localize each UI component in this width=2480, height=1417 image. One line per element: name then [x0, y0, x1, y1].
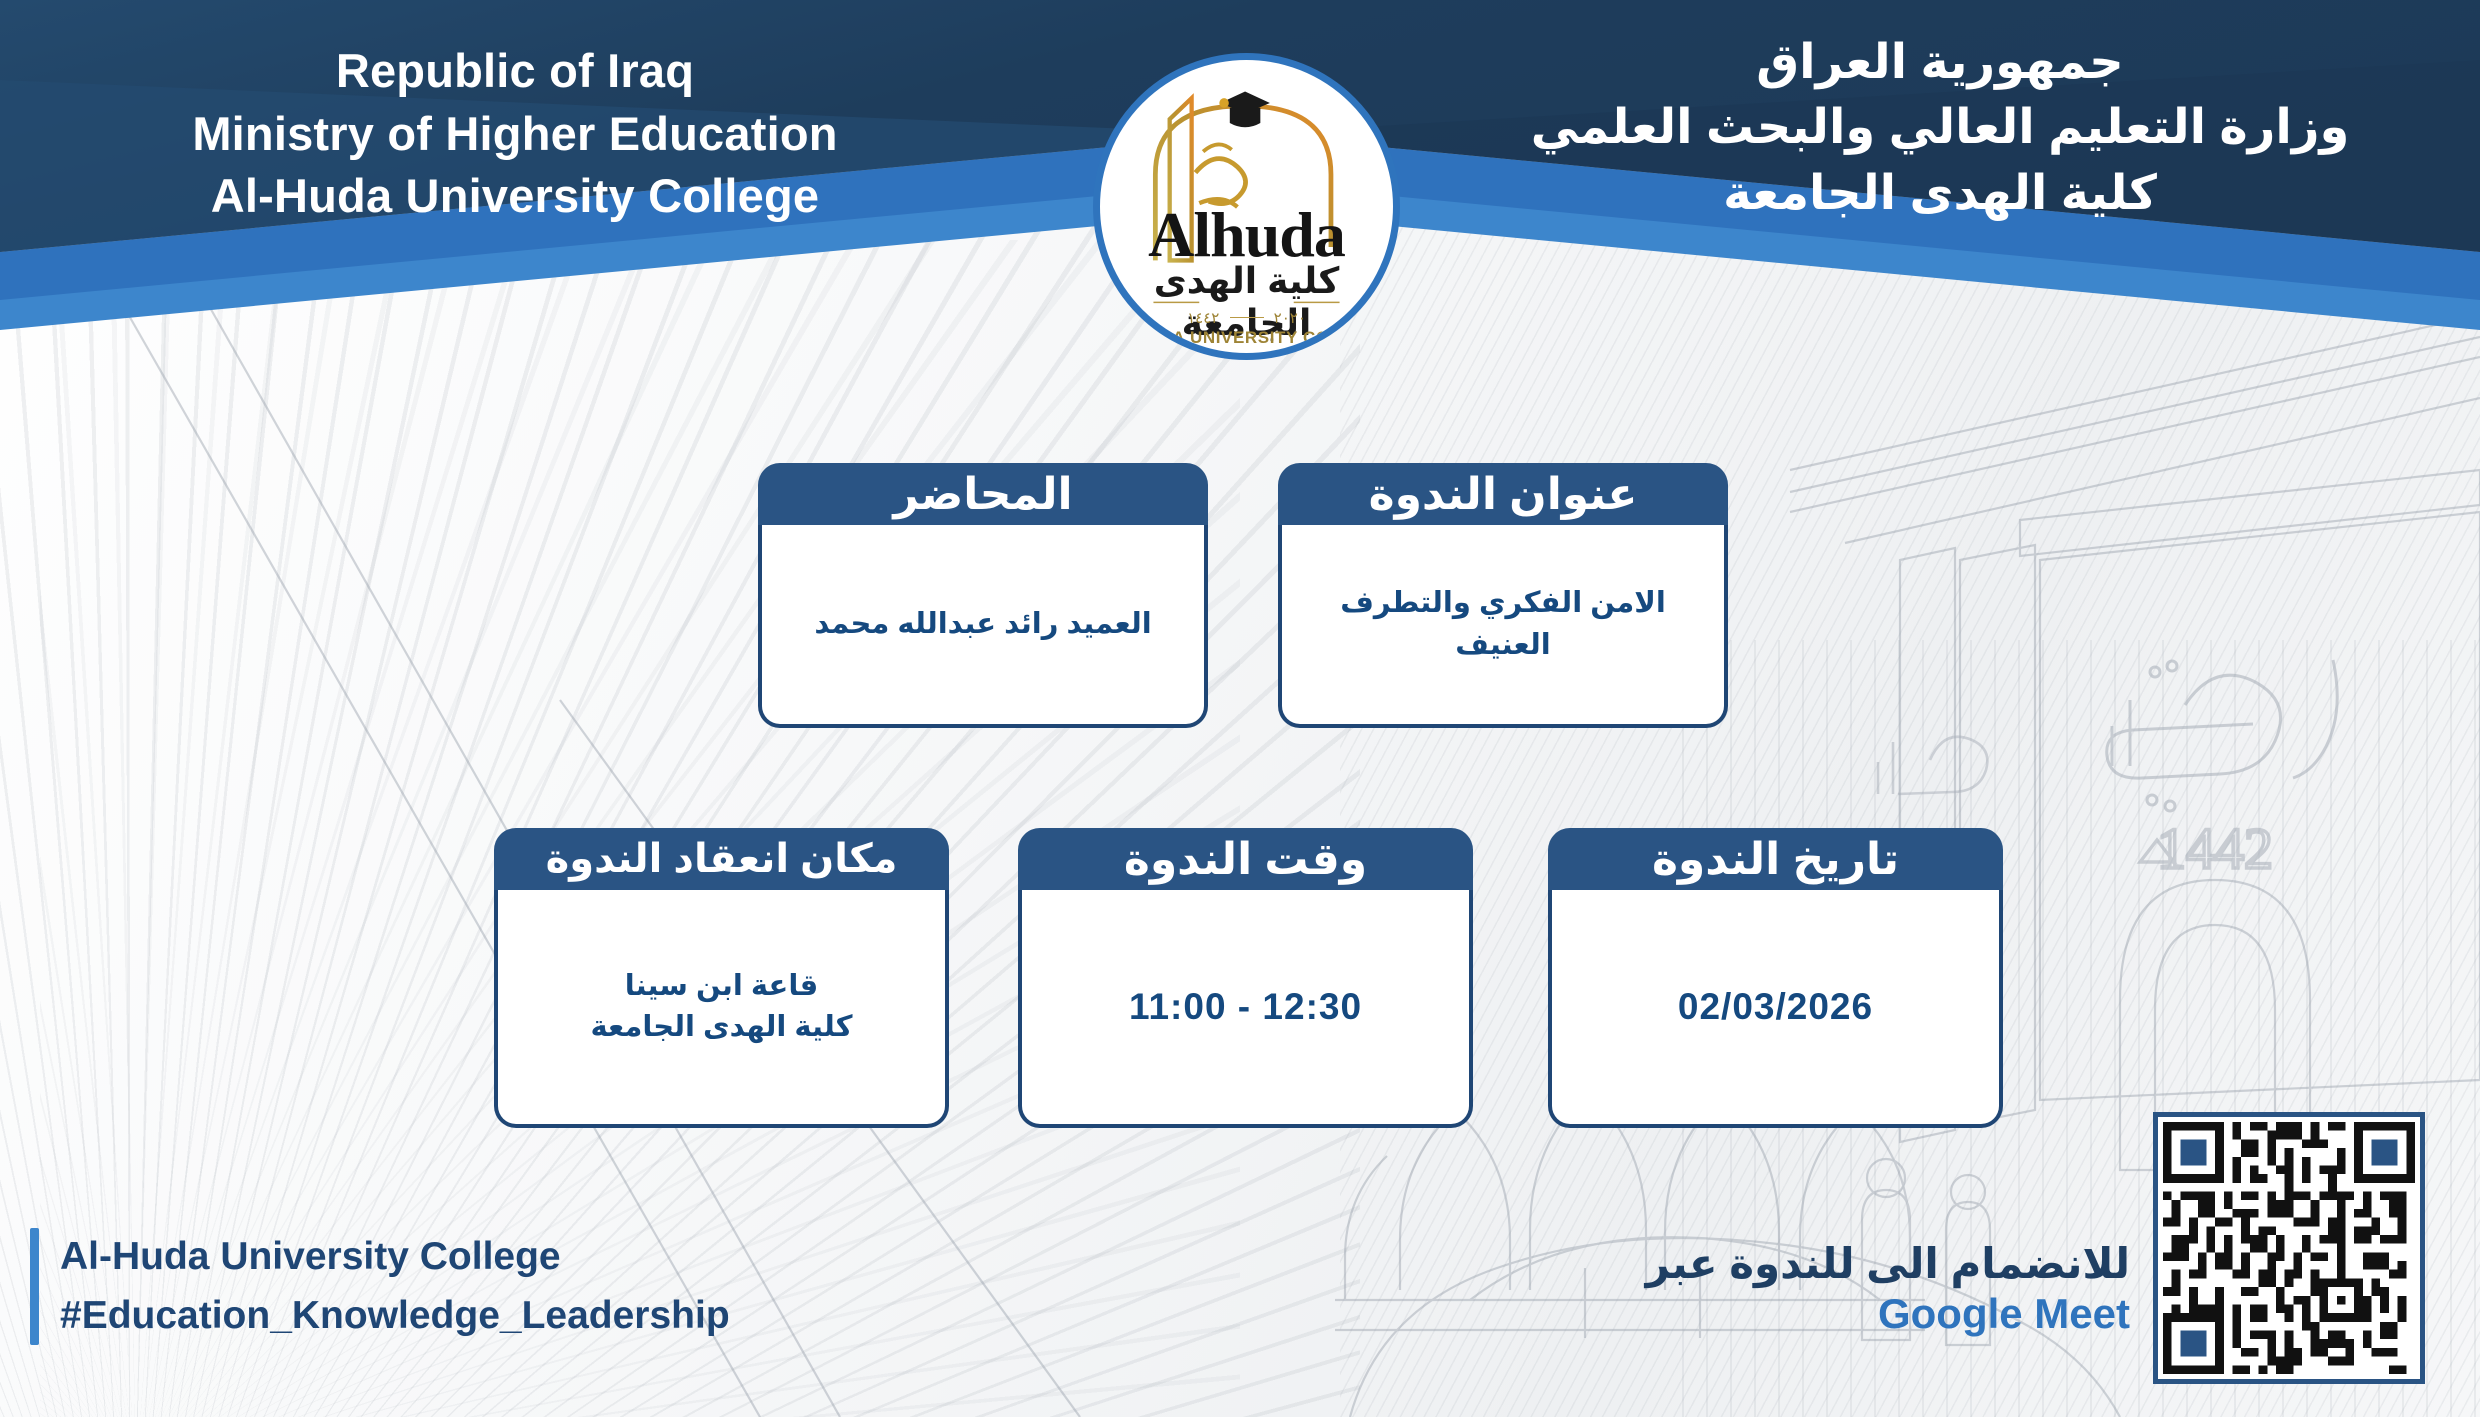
info-card-seminar-title: عنوان الندوة الامن الفكري والتطرف العنيف — [1278, 463, 1728, 728]
university-logo: Alhuda كلية الهدى الجامعة ٢٠٢٠ ١٤٤٢ AL-H… — [1093, 53, 1400, 360]
card-time-header: وقت الندوة — [1018, 828, 1473, 890]
header-left-line-1: Republic of Iraq — [120, 40, 910, 103]
poster-canvas: 1442 — [0, 0, 2480, 1417]
google-meet-label: Google Meet — [1600, 1289, 2130, 1339]
header-right-line-1: جمهورية العراق — [1510, 30, 2370, 95]
footer-hashtag: #Education_Knowledge_Leadership — [60, 1287, 730, 1346]
footer-college-name: Al-Huda University College — [60, 1228, 730, 1287]
card-seminar-title-value: الامن الفكري والتطرف العنيف — [1278, 525, 1728, 728]
header-left-line-2: Ministry of Higher Education — [120, 103, 910, 166]
card-time-value: 11:00 - 12:30 — [1018, 890, 1473, 1128]
footer-branding: Al-Huda University College #Education_Kn… — [30, 1228, 730, 1345]
info-card-date: تاريخ الندوة 02/03/2026 — [1548, 828, 2003, 1128]
logo-year-row: ٢٠٢٠ ١٤٤٢ — [1100, 309, 1393, 327]
logo-year-divider — [1230, 317, 1264, 318]
join-arabic-text: للانضمام الى للندوة عبر — [1600, 1238, 2130, 1289]
footer-accent-bar — [30, 1228, 39, 1345]
card-date-value: 02/03/2026 — [1548, 890, 2003, 1128]
header-right-line-3: كلية الهدى الجامعة — [1510, 161, 2370, 226]
qr-code[interactable] — [2153, 1112, 2425, 1384]
info-card-time: وقت الندوة 11:00 - 12:30 — [1018, 828, 1473, 1128]
header-left-line-3: Al-Huda University College — [120, 165, 910, 228]
footer-text-block: Al-Huda University College #Education_Kn… — [60, 1228, 730, 1345]
card-lecturer-value: العميد رائد عبدالله محمد — [758, 525, 1208, 728]
card-venue-header: مكان انعقاد الندوة — [494, 828, 949, 890]
card-date-header: تاريخ الندوة — [1548, 828, 2003, 890]
join-instructions: للانضمام الى للندوة عبر Google Meet — [1600, 1238, 2130, 1340]
info-card-venue: مكان انعقاد الندوة قاعة ابن سينا كلية ال… — [494, 828, 949, 1128]
info-card-lecturer: المحاضر العميد رائد عبدالله محمد — [758, 463, 1208, 728]
logo-english-name: AL-HUDA UNIVERSITY COLLEGE — [1100, 328, 1393, 348]
logo-year-hijri: ١٤٤٢ — [1187, 310, 1219, 327]
header-left-text-block: Republic of Iraq Ministry of Higher Educ… — [120, 40, 910, 228]
header-right-line-2: وزارة التعليم العالي والبحث العلمي — [1510, 95, 2370, 160]
card-venue-line-1: قاعة ابن سينا — [590, 966, 852, 1007]
logo-year-gregorian: ٢٠٢٠ — [1274, 310, 1306, 327]
card-lecturer-header: المحاضر — [758, 463, 1208, 525]
card-venue-line-2: كلية الهدى الجامعة — [590, 1007, 852, 1048]
card-venue-value: قاعة ابن سينا كلية الهدى الجامعة — [494, 890, 949, 1128]
card-seminar-title-header: عنوان الندوة — [1278, 463, 1728, 525]
qr-code-matrix[interactable] — [2163, 1122, 2415, 1374]
header-right-text-block: جمهورية العراق وزارة التعليم العالي والب… — [1510, 30, 2370, 226]
